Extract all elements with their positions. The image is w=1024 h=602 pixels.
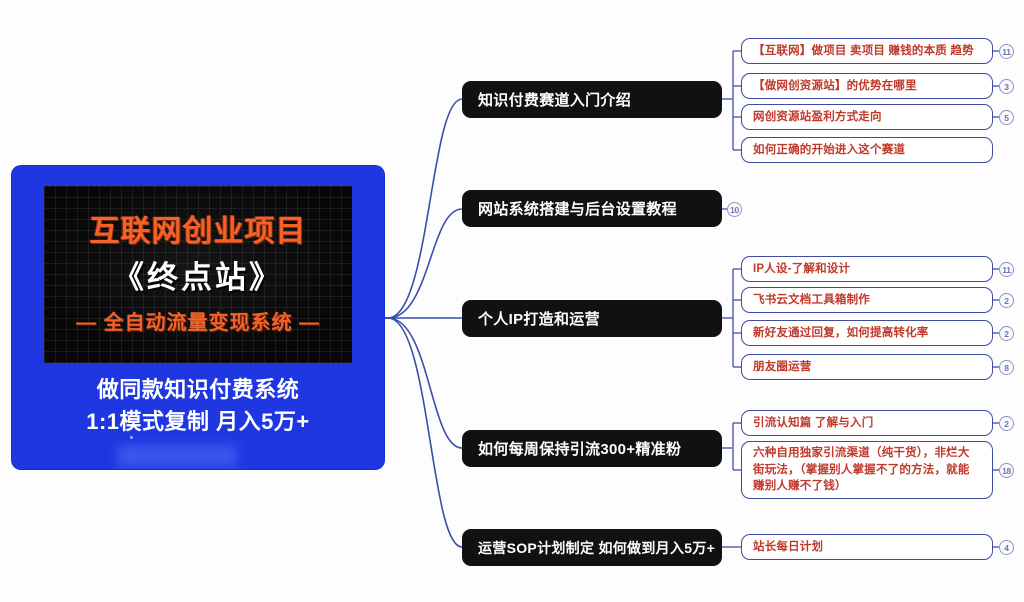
root-decorative-dot (130, 436, 133, 439)
connector-badge-stubs-3 (993, 269, 999, 367)
leaf-node-5-1-badge: 4 (999, 540, 1014, 555)
connector-branch4-bracket (722, 423, 741, 470)
connector-branch3-bracket (722, 269, 741, 367)
leaf-node-1-1-badge: 11 (999, 44, 1014, 59)
root-node[interactable]: 互联网创业项目 《终点站》 — 全自动流量变现系统 — 做同款知识付费系统 1:… (12, 166, 384, 469)
branch-node-1[interactable]: 知识付费赛道入门介绍 (462, 81, 722, 118)
root-subtitle-line2: 1:1模式复制 月入5万+ (12, 404, 384, 436)
leaf-node-3-4[interactable]: 朋友圈运营 (741, 354, 993, 380)
root-title-line2: 《终点站》 (44, 252, 352, 297)
connector-root-4 (384, 318, 462, 448)
mindmap-canvas: 互联网创业项目 《终点站》 — 全自动流量变现系统 — 做同款知识付费系统 1:… (0, 0, 1024, 602)
connector-root-5 (384, 318, 462, 547)
leaf-node-1-1[interactable]: 【互联网】做项目 卖项目 赚钱的本质 趋势 (741, 38, 993, 64)
connector-root-1 (384, 99, 462, 318)
leaf-node-3-3[interactable]: 新好友通过回复，如何提高转化率 (741, 320, 993, 346)
branch-node-2-badge: 10 (727, 202, 742, 217)
leaf-node-4-1-badge: 2 (999, 416, 1014, 431)
connector-badge-stubs-1 (993, 51, 999, 117)
root-blurred-watermark (117, 445, 237, 467)
leaf-node-3-1[interactable]: IP人设-了解和设计 (741, 256, 993, 282)
leaf-node-3-2-badge: 2 (999, 293, 1014, 308)
root-title-line1: 互联网创业项目 (44, 206, 352, 250)
leaf-node-4-2-badge: 18 (999, 463, 1014, 478)
leaf-node-1-2[interactable]: 【做网创资源站】的优势在哪里 (741, 73, 993, 99)
leaf-node-4-1[interactable]: 引流认知篇 了解与入门 (741, 410, 993, 436)
branch-node-2[interactable]: 网站系统搭建与后台设置教程 (462, 190, 722, 227)
leaf-node-3-2[interactable]: 飞书云文档工具箱制作 (741, 287, 993, 313)
branch-node-3[interactable]: 个人IP打造和运营 (462, 300, 722, 337)
leaf-node-1-2-badge: 3 (999, 79, 1014, 94)
connector-branch1-bracket (722, 51, 741, 150)
leaf-node-1-4[interactable]: 如何正确的开始进入这个赛道 (741, 137, 993, 163)
leaf-node-4-2[interactable]: 六种自用独家引流渠道（纯干货），非烂大街玩法，（掌握别人掌握不了的方法，就能赚别… (741, 441, 993, 499)
leaf-node-5-1[interactable]: 站长每日计划 (741, 534, 993, 560)
leaf-node-3-3-badge: 2 (999, 326, 1014, 341)
connector-root-2 (384, 209, 462, 318)
branch-node-5[interactable]: 运营SOP计划制定 如何做到月入5万+ (462, 529, 722, 566)
root-title-line3: — 全自动流量变现系统 — (44, 306, 352, 335)
root-poster-screen: 互联网创业项目 《终点站》 — 全自动流量变现系统 — (44, 186, 352, 363)
leaf-node-1-3[interactable]: 网创资源站盈利方式走向 (741, 104, 993, 130)
connector-badge-stubs-4 (993, 423, 999, 470)
leaf-node-3-1-badge: 11 (999, 262, 1014, 277)
leaf-node-1-3-badge: 5 (999, 110, 1014, 125)
root-subtitle-line1: 做同款知识付费系统 (12, 372, 384, 404)
branch-node-4[interactable]: 如何每周保持引流300+精准粉 (462, 430, 722, 467)
leaf-node-3-4-badge: 8 (999, 360, 1014, 375)
